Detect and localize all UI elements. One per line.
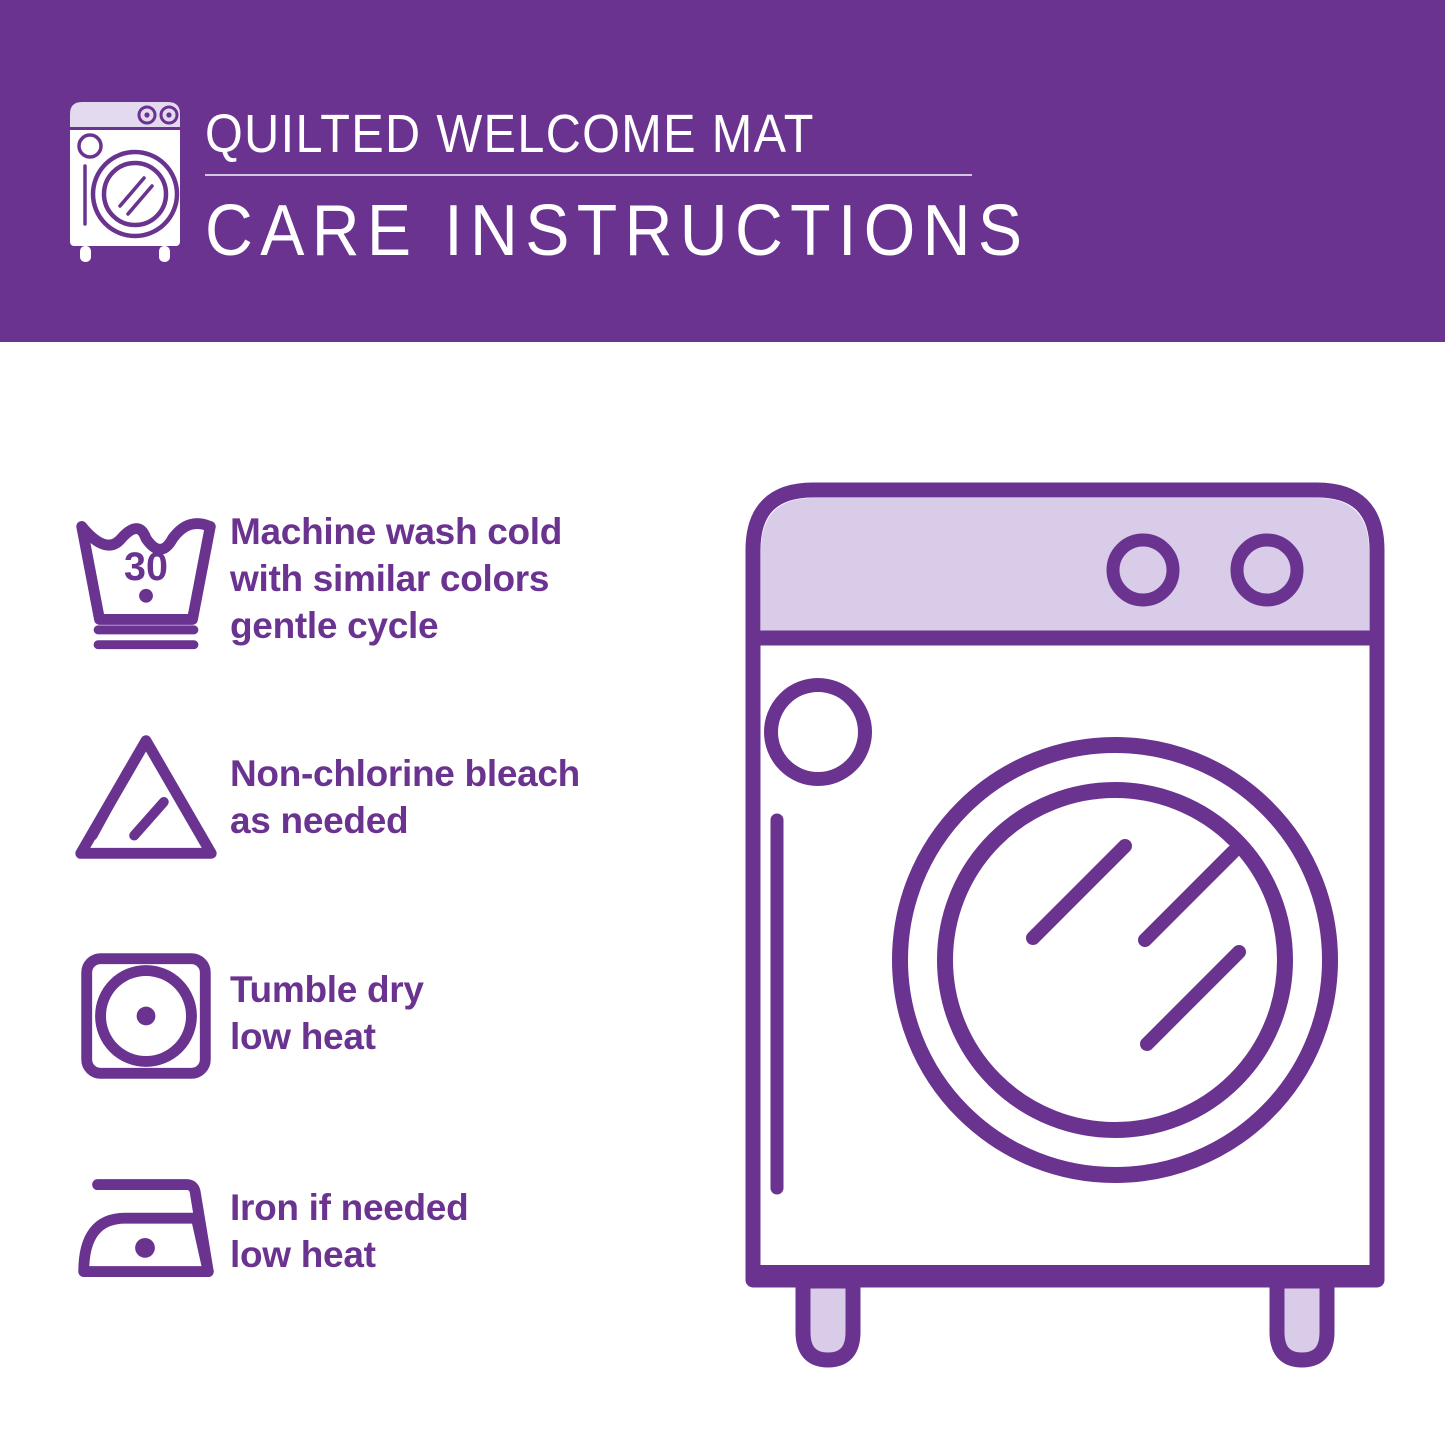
tumble-dry-low-icon: [62, 940, 230, 1090]
svg-text:30: 30: [124, 545, 168, 589]
care-label: Machine wash cold with similar colors ge…: [230, 502, 682, 649]
care-row: Iron if needed low heat: [62, 1160, 682, 1310]
page-subtitle: CARE INSTRUCTIONS: [205, 192, 932, 270]
care-label: Iron if needed low heat: [230, 1160, 682, 1278]
care-row: Tumble dry low heat: [62, 940, 682, 1090]
care-row: 30 Machine wash cold with similar colors…: [62, 502, 682, 652]
machine-wash-30-gentle-icon: 30: [62, 502, 230, 652]
care-label: Non-chlorine bleach as needed: [230, 724, 682, 844]
title-divider: [205, 174, 972, 176]
care-label: Tumble dry low heat: [230, 940, 682, 1060]
header-text-block: QUILTED WELCOME MAT CARE INSTRUCTIONS: [205, 104, 995, 270]
non-chlorine-bleach-triangle-icon: [62, 724, 230, 874]
page-title: QUILTED WELCOME MAT: [205, 104, 916, 164]
washing-machine-icon: [62, 96, 190, 262]
care-row: Non-chlorine bleach as needed: [62, 724, 682, 874]
care-instructions-list: 30 Machine wash cold with similar colors…: [0, 342, 700, 1445]
header-banner: QUILTED WELCOME MAT CARE INSTRUCTIONS: [0, 0, 1445, 342]
washing-machine-illustration: [715, 470, 1415, 1380]
iron-low-heat-icon: [62, 1160, 230, 1310]
